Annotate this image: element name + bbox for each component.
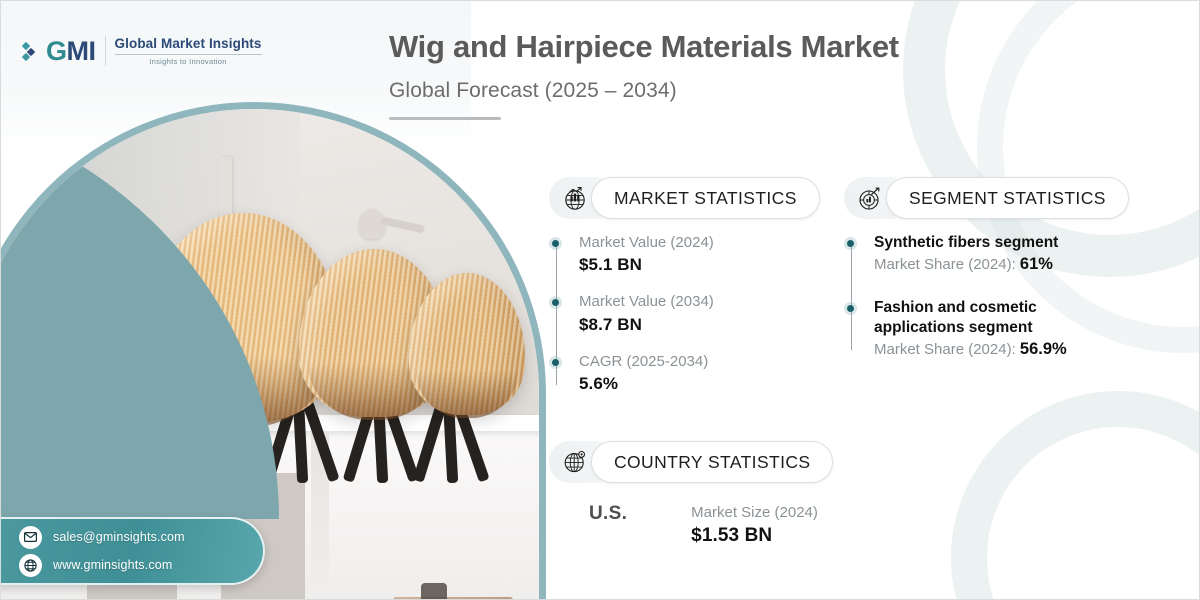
stat-value: $5.1 BN	[579, 255, 820, 275]
logo-tagline: Insights to Innovation	[115, 57, 262, 66]
bullet-dot	[552, 299, 559, 306]
logo-company-name: Global Market Insights	[115, 36, 262, 51]
list-item: Market Value (2024) $5.1 BN	[579, 233, 820, 275]
stat-label: Market Value (2034)	[579, 292, 820, 312]
title-underline	[389, 117, 501, 120]
segment-share-value: 61%	[1020, 255, 1053, 273]
stat-label: CAGR (2025-2034)	[579, 352, 820, 372]
diamond-cluster-icon	[23, 40, 37, 62]
logo-mark: GMI	[46, 38, 96, 65]
stat-value: 5.6%	[579, 374, 820, 394]
market-statistics-header: MARKET STATISTICS	[549, 177, 820, 219]
bullet-dot	[847, 305, 854, 312]
contact-email: sales@gminsights.com	[53, 530, 185, 544]
bottom-right-arc	[951, 391, 1199, 599]
segment-statistics-header: SEGMENT STATISTICS	[844, 177, 1129, 219]
brand-logo[interactable]: GMI Global Market Insights Insights to I…	[23, 36, 262, 66]
bullet-dot	[552, 240, 559, 247]
country-statistics-panel: COUNTRY STATISTICS U.S. Market Size (202…	[549, 441, 833, 547]
logo-rule	[115, 54, 262, 55]
segment-share-label: Market Share (2024):	[874, 341, 1016, 358]
header-block: Wig and Hairpiece Materials Market Globa…	[389, 29, 899, 120]
globe-icon	[19, 554, 42, 577]
photo-floor-object	[421, 583, 447, 600]
infographic-root: sales@gminsights.com www.gminsights.com …	[0, 0, 1200, 600]
list-item: Synthetic fibers segment Market Share (2…	[874, 233, 1129, 274]
segment-statistics-title-pill: SEGMENT STATISTICS	[886, 177, 1129, 219]
timeline-rail	[851, 242, 852, 350]
page-title: Wig and Hairpiece Materials Market	[389, 29, 899, 66]
country-statistics-header: COUNTRY STATISTICS	[549, 441, 833, 483]
country-statistics-title: COUNTRY STATISTICS	[614, 452, 810, 473]
envelope-icon	[19, 526, 42, 549]
list-item: Market Value (2034) $8.7 BN	[579, 292, 820, 334]
segment-share-label: Market Share (2024):	[874, 256, 1016, 273]
segment-statistics-title: SEGMENT STATISTICS	[909, 188, 1106, 209]
country-statistics-row: U.S. Market Size (2024) $1.53 BN	[549, 503, 833, 547]
country-statistics-title-pill: COUNTRY STATISTICS	[591, 441, 833, 483]
contact-website: www.gminsights.com	[53, 558, 172, 572]
segment-share: Market Share (2024): 56.9%	[874, 340, 1129, 359]
logo-mark-mi: MI	[67, 36, 96, 66]
market-statistics-list: Market Value (2024) $5.1 BN Market Value…	[549, 233, 820, 394]
photo-wall-lamp	[359, 205, 411, 245]
market-statistics-title: MARKET STATISTICS	[614, 188, 797, 209]
contact-email-row[interactable]: sales@gminsights.com	[19, 526, 263, 549]
stat-label: Market Value (2024)	[579, 233, 820, 253]
contact-card: sales@gminsights.com www.gminsights.com	[0, 517, 265, 585]
market-statistics-panel: MARKET STATISTICS Market Value (2024) $5…	[549, 177, 820, 394]
page-subtitle: Global Forecast (2025 – 2034)	[389, 79, 899, 103]
contact-website-row[interactable]: www.gminsights.com	[19, 554, 263, 577]
bullet-dot	[847, 240, 854, 247]
list-item: CAGR (2025-2034) 5.6%	[579, 352, 820, 394]
logo-text-block: Global Market Insights Insights to Innov…	[115, 36, 262, 66]
bullet-dot	[552, 359, 559, 366]
segment-share: Market Share (2024): 61%	[874, 255, 1129, 274]
stat-label: Market Size (2024)	[691, 503, 818, 523]
country-metric: Market Size (2024) $1.53 BN	[691, 503, 818, 547]
segment-name: Synthetic fibers segment	[874, 233, 1129, 253]
list-item: Fashion and cosmetic applications segmen…	[874, 298, 1129, 359]
logo-divider	[105, 36, 106, 66]
country-name: U.S.	[589, 503, 627, 525]
segment-statistics-panel: SEGMENT STATISTICS Synthetic fibers segm…	[844, 177, 1129, 359]
segment-statistics-list: Synthetic fibers segment Market Share (2…	[844, 233, 1129, 359]
stat-value: $1.53 BN	[691, 525, 818, 547]
segment-share-value: 56.9%	[1020, 340, 1067, 358]
stat-value: $8.7 BN	[579, 315, 820, 335]
market-statistics-title-pill: MARKET STATISTICS	[591, 177, 820, 219]
segment-name: Fashion and cosmetic applications segmen…	[874, 298, 1089, 338]
